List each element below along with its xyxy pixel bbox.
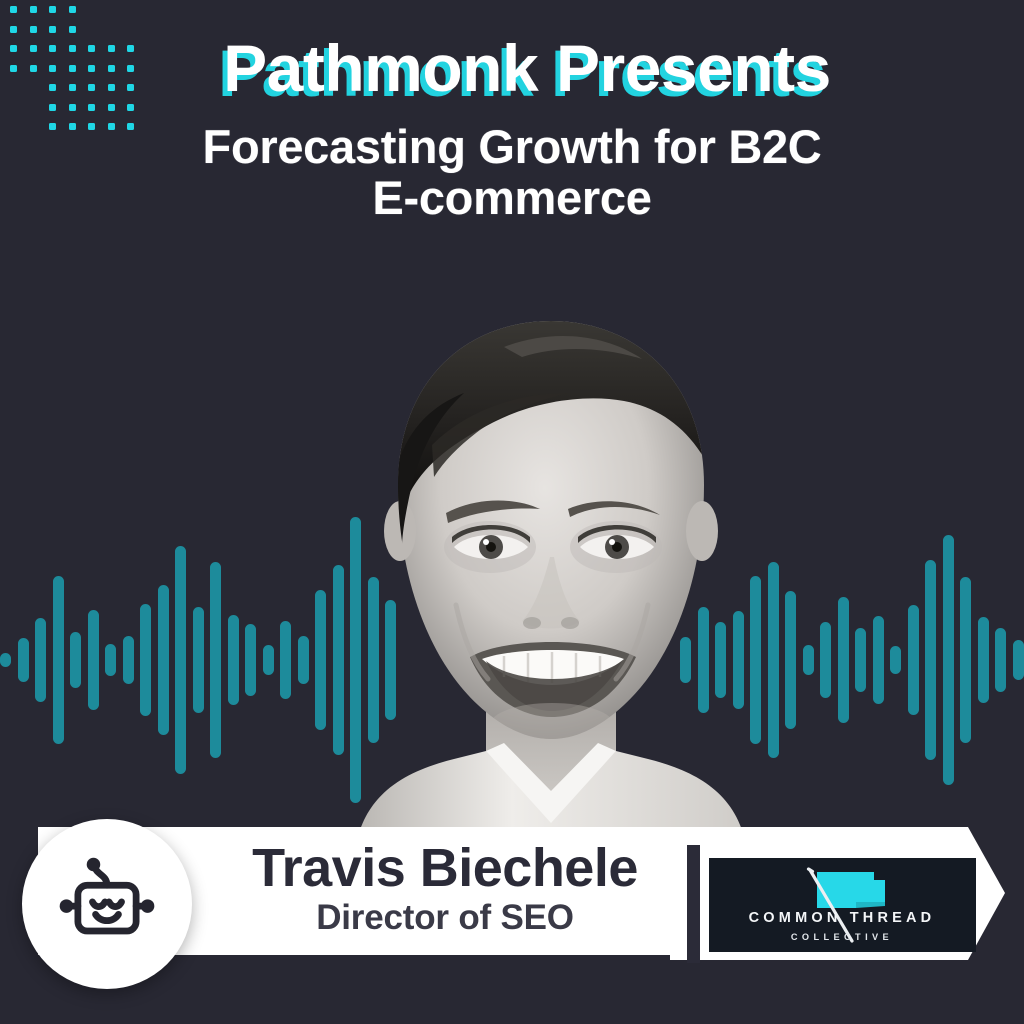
page-title: Pathmonk Presents <box>0 34 1024 103</box>
waveform-bar <box>35 618 46 702</box>
waveform-bar <box>873 616 884 704</box>
headline-block: Pathmonk Presents Forecasting Growth for… <box>0 34 1024 223</box>
speaker-info: Travis Biechele Director of SEO <box>210 840 680 938</box>
grid-dot <box>69 6 76 13</box>
waveform-bar <box>315 590 326 730</box>
waveform-bar <box>855 628 866 692</box>
speaker-role: Director of SEO <box>210 899 680 938</box>
waveform-bar <box>1013 640 1024 680</box>
waveform-bar <box>105 644 116 676</box>
waveform-bar <box>995 628 1006 692</box>
waveform-bar <box>123 636 134 684</box>
waveform-bar <box>978 617 989 703</box>
sponsor-line-2: COLLECTIVE <box>791 932 893 942</box>
waveform-bar <box>890 646 901 674</box>
grid-dot <box>10 26 17 33</box>
waveform-bar <box>943 535 954 785</box>
grid-dot <box>30 6 37 13</box>
waveform-bar <box>88 610 99 710</box>
common-thread-collective-logo: COMMON THREAD COLLECTIVE <box>709 858 976 952</box>
speaker-name: Travis Biechele <box>210 840 680 897</box>
waveform-bar <box>785 591 796 729</box>
waveform-bar <box>803 645 814 675</box>
grid-dot <box>30 26 37 33</box>
waveform-bar <box>960 577 971 743</box>
grid-dot <box>49 26 56 33</box>
sponsor-line-1: COMMON THREAD <box>749 910 936 926</box>
grid-dot <box>10 6 17 13</box>
avatar <box>22 819 192 989</box>
waveform-bar <box>750 576 761 744</box>
grid-dot <box>69 26 76 33</box>
waveform-bar <box>820 622 831 698</box>
waveform-bar <box>18 638 29 682</box>
waveform-bar <box>210 562 221 758</box>
episode-title: Forecasting Growth for B2C E-commerce <box>0 121 1024 223</box>
waveform-bar <box>263 645 274 675</box>
waveform-bar <box>228 615 239 705</box>
waveform-bar <box>158 585 169 735</box>
waveform-bar <box>193 607 204 713</box>
divider <box>687 845 700 963</box>
waveform-bar <box>245 624 256 696</box>
waveform-bar <box>70 632 81 688</box>
waveform-bar <box>53 576 64 744</box>
waveform-bar <box>733 611 744 709</box>
waveform-bar <box>698 607 709 713</box>
waveform-bar <box>175 546 186 774</box>
waveform-bar <box>298 636 309 684</box>
waveform-bar <box>838 597 849 723</box>
waveform-bar <box>925 560 936 760</box>
waveform-bar <box>680 637 691 683</box>
waveform-bar <box>715 622 726 698</box>
waveform-bar <box>280 621 291 699</box>
robot-face-icon <box>55 852 159 956</box>
waveform-bar <box>908 605 919 715</box>
waveform-bar <box>0 653 11 667</box>
grid-dot <box>49 6 56 13</box>
social-card: Pathmonk Presents Forecasting Growth for… <box>0 0 1024 1024</box>
waveform-bar <box>140 604 151 716</box>
audio-waveform-left <box>0 540 372 780</box>
audio-waveform-right <box>680 540 1024 780</box>
waveform-bar <box>768 562 779 758</box>
